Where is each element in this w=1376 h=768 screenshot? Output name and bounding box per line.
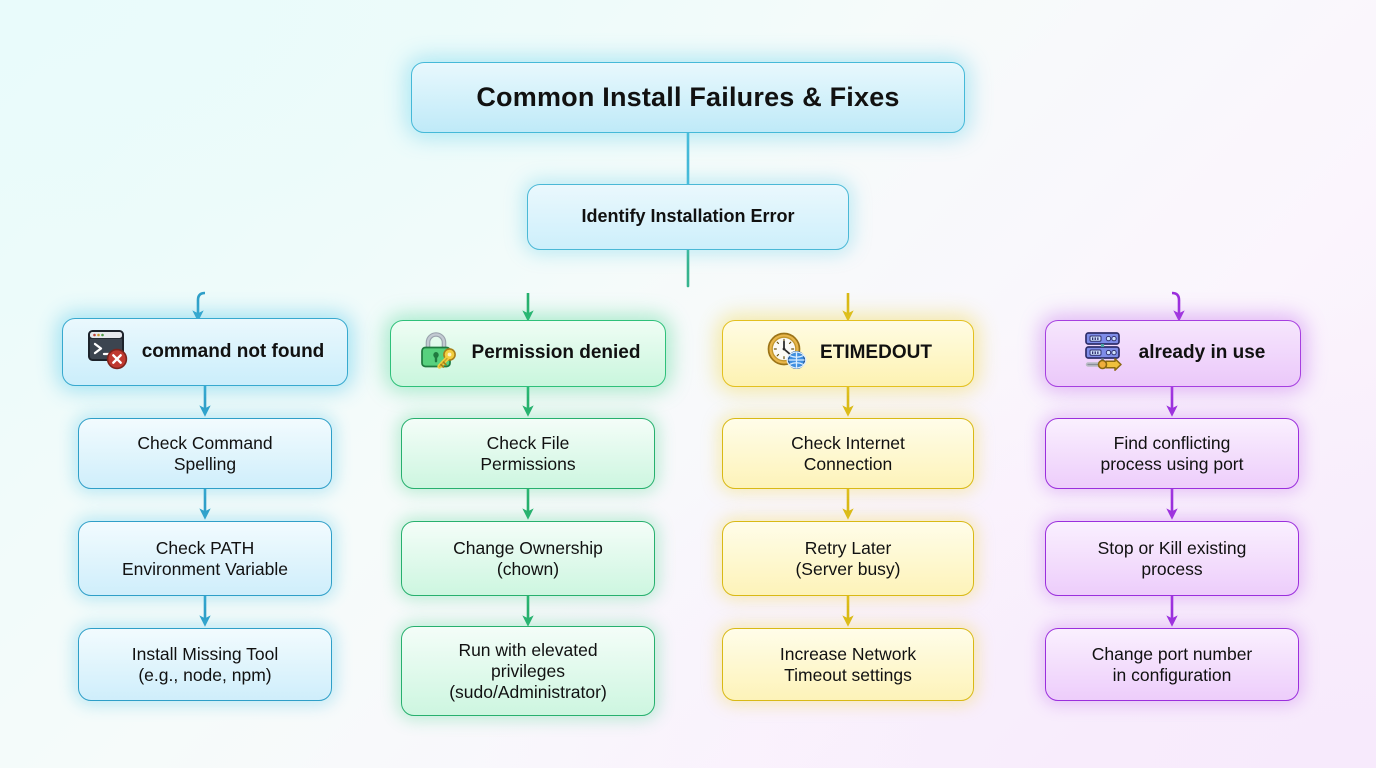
flowchart-canvas: Common Install Failures & Fixes Identify…	[0, 0, 1376, 768]
step-c3-3[interactable]: Increase Network Timeout settings	[722, 628, 974, 701]
category-command-not-found[interactable]: command not found	[62, 318, 348, 386]
category-label-4: already in use	[1139, 342, 1266, 365]
step-c1-2[interactable]: Check PATH Environment Variable	[78, 521, 332, 596]
category-etimedout[interactable]: ETIMEDOUT	[722, 320, 974, 387]
step-c2-2[interactable]: Change Ownership (chown)	[401, 521, 655, 596]
terminal-error-icon	[86, 327, 132, 378]
category-already-in-use[interactable]: already in use	[1045, 320, 1301, 387]
step-c3-1[interactable]: Check Internet Connection	[722, 418, 974, 489]
step-c4-3[interactable]: Change port number in configuration	[1045, 628, 1299, 701]
lock-key-icon	[416, 329, 462, 378]
step-c4-3-label: Change port number in configuration	[1092, 644, 1253, 686]
step-c2-1[interactable]: Check File Permissions	[401, 418, 655, 489]
step-c2-2-label: Change Ownership (chown)	[453, 538, 603, 580]
step-c4-1[interactable]: Find conflicting process using port	[1045, 418, 1299, 489]
step-c4-2[interactable]: Stop or Kill existing process	[1045, 521, 1299, 596]
step-c1-3-label: Install Missing Tool (e.g., node, npm)	[132, 644, 279, 686]
category-label-3: ETIMEDOUT	[820, 342, 932, 365]
edge-bus-to-cat-1	[198, 293, 205, 318]
node-identify-error-label: Identify Installation Error	[581, 206, 794, 228]
step-c3-2[interactable]: Retry Later (Server busy)	[722, 521, 974, 596]
category-label-2: Permission denied	[472, 342, 641, 365]
step-c1-2-label: Check PATH Environment Variable	[122, 538, 288, 580]
step-c1-3[interactable]: Install Missing Tool (e.g., node, npm)	[78, 628, 332, 701]
step-c1-1-label: Check Command Spelling	[137, 433, 272, 475]
clock-globe-icon	[764, 329, 810, 378]
step-c2-1-label: Check File Permissions	[480, 433, 575, 475]
step-c2-3-label: Run with elevated privileges (sudo/Admin…	[449, 640, 607, 703]
diagram-title: Common Install Failures & Fixes	[411, 62, 965, 133]
step-c1-1[interactable]: Check Command Spelling	[78, 418, 332, 489]
edge-bus-to-cat-4	[1172, 293, 1179, 318]
step-c4-2-label: Stop or Kill existing process	[1098, 538, 1247, 580]
step-c3-2-label: Retry Later (Server busy)	[795, 538, 900, 580]
category-label-1: command not found	[142, 341, 325, 364]
diagram-title-label: Common Install Failures & Fixes	[476, 81, 899, 113]
server-port-icon	[1081, 329, 1129, 378]
step-c3-1-label: Check Internet Connection	[791, 433, 905, 475]
step-c2-3[interactable]: Run with elevated privileges (sudo/Admin…	[401, 626, 655, 716]
category-permission-denied[interactable]: Permission denied	[390, 320, 666, 387]
node-identify-error: Identify Installation Error	[527, 184, 849, 250]
step-c4-1-label: Find conflicting process using port	[1101, 433, 1244, 475]
step-c3-3-label: Increase Network Timeout settings	[780, 644, 916, 686]
